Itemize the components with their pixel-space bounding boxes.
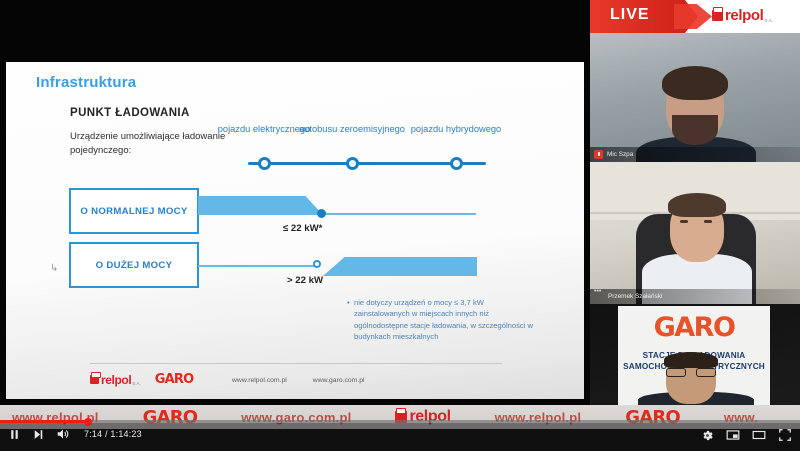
timeline-node-1: [258, 157, 271, 170]
live-relpol-logo: relpol S.A.: [712, 7, 773, 24]
relpol-wordmark: relpol: [101, 373, 131, 387]
participant-hair: [664, 352, 718, 368]
player-controls: 7:14 / 1:14:23: [0, 420, 800, 451]
participant-name: Przemek Szałański: [608, 293, 662, 300]
participant-tile-2[interactable]: Przemek Szałański: [590, 162, 800, 304]
participant-eye-right: [704, 220, 712, 223]
mic-muted-icon: [594, 150, 603, 159]
footer-url-relpol: www.relpol.com.pl: [232, 377, 287, 384]
player-right-controls: [701, 428, 792, 442]
power-bar-high: [323, 257, 477, 276]
volume-button[interactable]: [56, 427, 70, 441]
fullscreen-button[interactable]: [778, 428, 792, 442]
slide-title: Infrastruktura: [36, 74, 136, 91]
more-options-icon: [594, 292, 604, 301]
participant-tile-3[interactable]: GARO STACJE DO ŁADOWANIA SAMOCHODÓW ELEK…: [590, 304, 800, 405]
participant-eye-left: [680, 220, 688, 223]
mouse-cursor-artifact: ↳: [50, 263, 58, 274]
participant-tile-1[interactable]: Mic Szpa: [590, 33, 800, 162]
relpol-sa-text: S.A.: [132, 381, 141, 387]
power-value-normal: ≤ 22 kW*: [283, 223, 322, 234]
live-badge-arrow: [674, 4, 712, 29]
progress-fill: [0, 420, 88, 423]
timeline-label-2: autobusu zeroemisyjnego: [297, 123, 407, 136]
player-left-controls: 7:14 / 1:14:23: [8, 427, 142, 441]
participants-rail: LIVE relpol S.A. Mic Szpa: [590, 0, 800, 405]
poster-garo-logo: GARO: [618, 312, 770, 343]
participant-name-bar: Mic Szpa: [590, 147, 800, 162]
video-stage[interactable]: Infrastruktura PUNKT ŁADOWANIA Urządzeni…: [0, 0, 590, 405]
live-banner: LIVE relpol S.A.: [590, 0, 800, 33]
slide-footer-urls: www.relpol.com.pl www.garo.com.pl: [232, 377, 365, 384]
participant-eye-right: [702, 95, 710, 98]
power-box-normal: O NORMALNEJ MOCY: [69, 188, 199, 234]
footer-divider: [90, 363, 502, 364]
footnote-text: nie dotyczy urządzeń o mocy ≤ 3,7 kW zai…: [354, 298, 533, 341]
power-line-high: [198, 265, 320, 267]
live-label: LIVE: [610, 6, 650, 24]
power-marker-high: [313, 260, 321, 268]
relpol-logo: relpol S.A.: [90, 373, 141, 387]
participant-beard: [672, 115, 718, 145]
progress-knob[interactable]: [84, 418, 92, 426]
glasses-icon: [666, 368, 716, 377]
settings-button[interactable]: [701, 429, 714, 442]
time-display: 7:14 / 1:14:23: [84, 429, 142, 439]
power-bar-normal: [198, 196, 323, 215]
video-player-page: Infrastruktura PUNKT ŁADOWANIA Urządzeni…: [0, 0, 800, 451]
power-value-high: > 22 kW: [287, 275, 323, 286]
slide-footer-logos: relpol S.A. GARO: [90, 372, 193, 387]
theater-button[interactable]: [752, 428, 766, 442]
footer-url-garo: www.garo.com.pl: [313, 377, 365, 384]
presentation-slide: Infrastruktura PUNKT ŁADOWANIA Urządzeni…: [6, 62, 584, 399]
progress-bar[interactable]: [0, 420, 800, 423]
participant-hair: [668, 193, 726, 217]
timeline-node-3: [450, 157, 463, 170]
relpol-sa-text: S.A.: [764, 18, 773, 24]
participant-name: Mic Szpa: [607, 151, 633, 158]
relpol-wordmark: relpol: [725, 7, 763, 24]
garo-logo: GARO: [155, 372, 194, 387]
participant-eye-left: [678, 95, 686, 98]
relpol-mark-icon: [90, 375, 99, 384]
slide-heading: PUNKT ŁADOWANIA: [70, 107, 190, 119]
slide-footnote: • nie dotyczy urządzeń o mocy ≤ 3,7 kW z…: [354, 297, 534, 343]
miniplayer-button[interactable]: [726, 428, 740, 442]
next-button[interactable]: [32, 428, 45, 441]
footnote-bullet: •: [347, 297, 350, 308]
relpol-mark-icon: [712, 10, 723, 21]
power-line-normal: [322, 213, 476, 215]
pause-button[interactable]: [8, 428, 21, 441]
power-box-high: O DUŻEJ MOCY: [69, 242, 199, 288]
participant-name-bar: Przemek Szałański: [590, 289, 800, 304]
power-marker-normal: [317, 209, 326, 218]
timeline-node-2: [346, 157, 359, 170]
participant-hair: [662, 66, 728, 100]
timeline-label-3: pojazdu hybrydowego: [401, 123, 511, 136]
